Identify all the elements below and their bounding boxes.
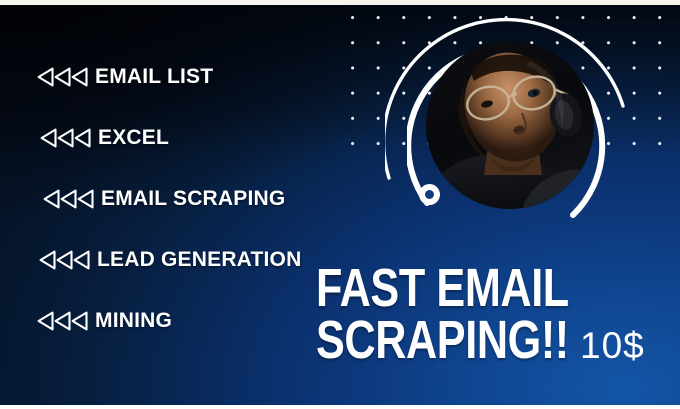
triple-left-triangle-icon bbox=[42, 188, 96, 210]
feature-item-lead-generation: LEAD GENERATION bbox=[0, 229, 340, 290]
portrait-badge bbox=[385, 18, 635, 268]
headline-line-2: SCRAPING!! bbox=[316, 314, 569, 366]
triple-left-triangle-icon bbox=[36, 66, 90, 88]
top-edge-strip bbox=[0, 0, 680, 5]
triple-left-triangle-icon bbox=[39, 127, 93, 149]
feature-item-mining: MINING bbox=[0, 290, 340, 351]
avatar bbox=[426, 41, 594, 209]
feature-list: EMAIL LIST EXCEL bbox=[0, 46, 340, 351]
feature-label: EMAIL LIST bbox=[95, 65, 213, 89]
headline-line-2-row: SCRAPING!! 10$ bbox=[316, 314, 680, 366]
feature-label: MINING bbox=[95, 309, 172, 333]
feature-item-excel: EXCEL bbox=[0, 107, 340, 168]
accent-dot-icon bbox=[419, 184, 440, 205]
feature-item-email-list: EMAIL LIST bbox=[0, 46, 340, 107]
feature-item-email-scraping: EMAIL SCRAPING bbox=[0, 168, 340, 229]
triple-left-triangle-icon bbox=[38, 249, 92, 271]
feature-label: LEAD GENERATION bbox=[97, 248, 301, 272]
triple-left-triangle-icon bbox=[36, 310, 90, 332]
feature-label: EMAIL SCRAPING bbox=[101, 187, 285, 211]
price-label: 10$ bbox=[580, 327, 645, 365]
feature-label: EXCEL bbox=[98, 126, 169, 150]
bottom-edge-strip bbox=[0, 405, 680, 409]
gig-thumbnail-poster: EMAIL LIST EXCEL bbox=[0, 0, 680, 409]
headline-block: FAST EMAIL SCRAPING!! 10$ bbox=[316, 262, 680, 366]
headline-line-1: FAST EMAIL bbox=[316, 262, 607, 314]
